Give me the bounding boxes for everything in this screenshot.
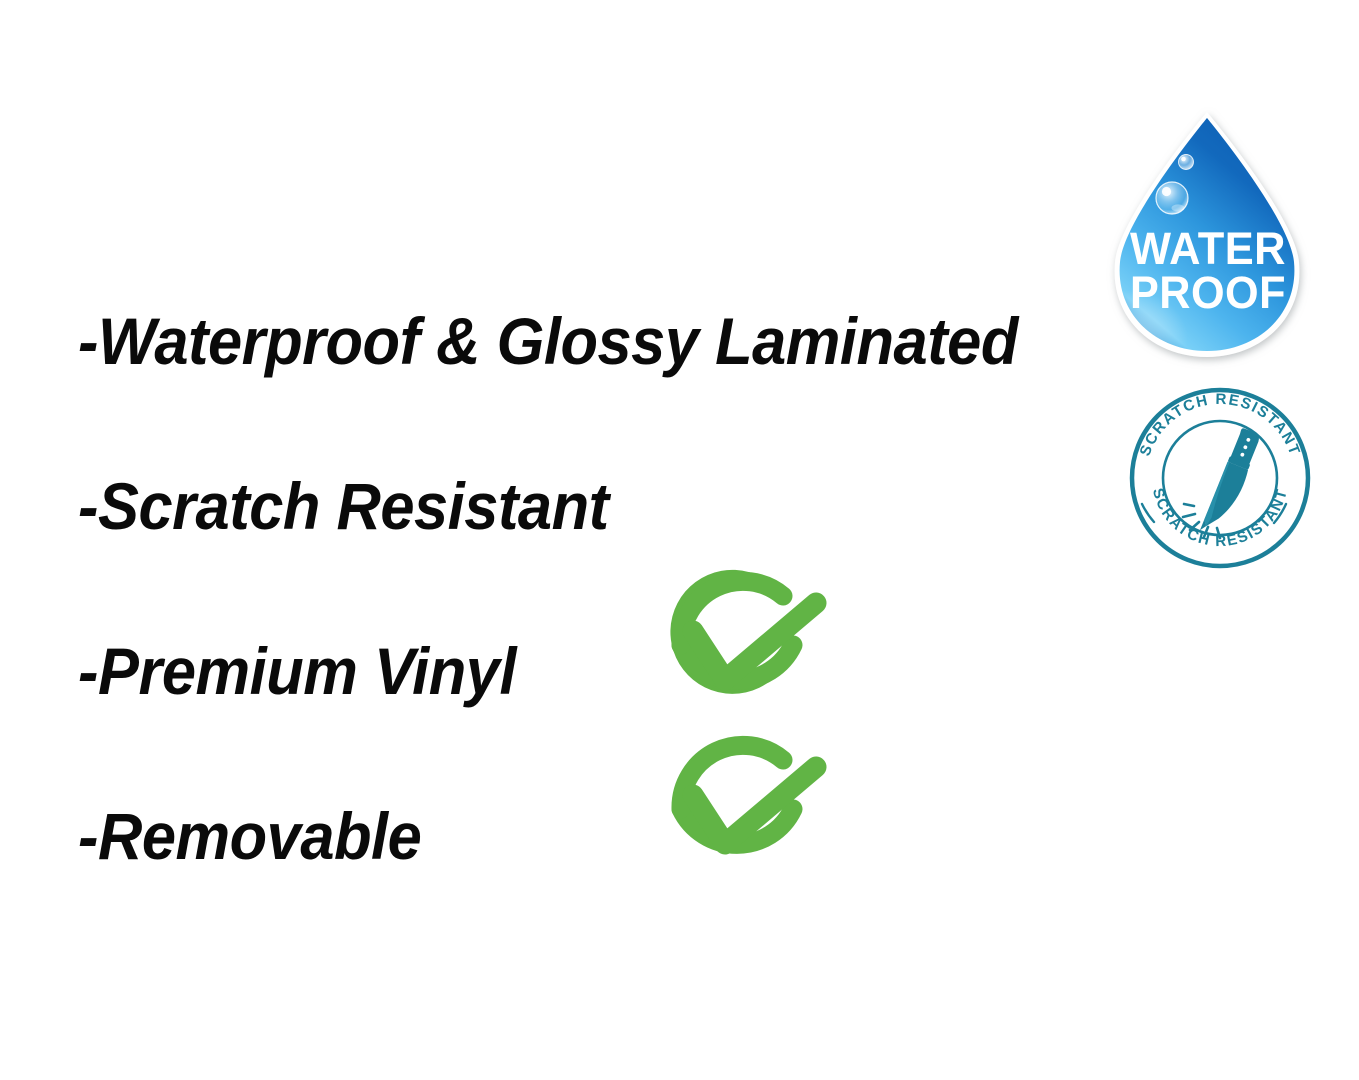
product-feature-graphic: -Waterproof & Glossy Laminated -Scratch …	[0, 0, 1359, 1080]
knife-stamp-icon: SCRATCH RESISTANT SCRATCH RESISTANT	[1124, 382, 1316, 574]
feature-row: -Premium Vinyl	[78, 588, 1088, 753]
feature-label-waterproof: -Waterproof & Glossy Laminated	[78, 308, 1018, 374]
feature-label-premium-vinyl: -Premium Vinyl	[78, 638, 516, 704]
feature-row: -Removable	[78, 753, 1088, 918]
check-circle-icon	[633, 705, 833, 905]
water-drop-icon: WATER PROOF	[1104, 108, 1312, 360]
waterproof-line2: PROOF	[1130, 267, 1286, 318]
feature-label-removable: -Removable	[78, 803, 421, 869]
feature-list: -Waterproof & Glossy Laminated -Scratch …	[78, 258, 1088, 918]
check-mark-removable	[633, 705, 833, 905]
feature-row: -Scratch Resistant	[78, 423, 1088, 588]
scratch-text-top: SCRATCH RESISTANT	[1137, 391, 1304, 459]
feature-row: -Waterproof & Glossy Laminated	[78, 258, 1088, 423]
feature-label-scratch-resistant: -Scratch Resistant	[78, 473, 609, 539]
scratch-resistant-badge: SCRATCH RESISTANT SCRATCH RESISTANT	[1124, 382, 1316, 574]
waterproof-badge: WATER PROOF	[1104, 108, 1312, 360]
